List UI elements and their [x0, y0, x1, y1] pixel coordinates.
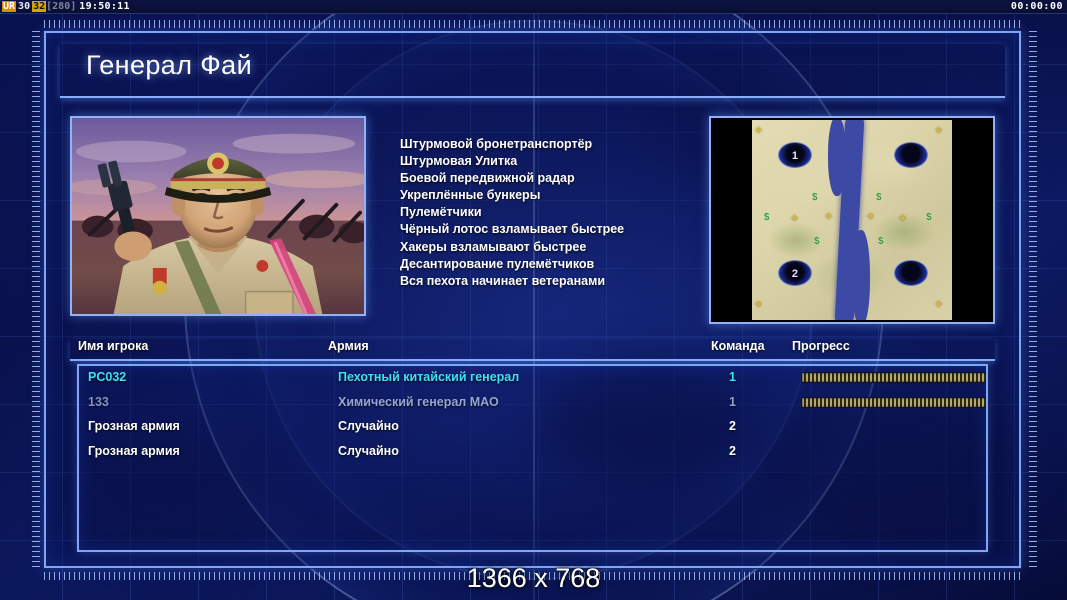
- resolution-overlay: 1366 x 768: [0, 563, 1067, 594]
- ability-item: Хакеры взламывают быстрее: [400, 239, 700, 256]
- ruler-trim-top: [44, 20, 1021, 28]
- status-tag: UR: [2, 1, 16, 12]
- minimap-star-icon: ✦: [934, 124, 943, 137]
- table-row[interactable]: Грозная армияСлучайно2: [79, 415, 986, 440]
- ruler-trim-left: [32, 31, 40, 568]
- minimap-star-icon: ✦: [754, 298, 763, 311]
- status-bracket: [280]: [46, 1, 76, 12]
- column-header-player-name: Имя игрока: [78, 339, 148, 353]
- cell-army: Случайно: [338, 444, 399, 458]
- minimap-supply-icon: $: [764, 212, 770, 223]
- minimap-river-upper: [828, 120, 846, 196]
- minimap-star-icon: ✦: [934, 298, 943, 311]
- minimap-supply-icon: $: [812, 192, 818, 203]
- ability-item: Вся пехота начинает ветеранами: [400, 273, 700, 290]
- page-title: Генерал Фай: [86, 50, 252, 81]
- table-row[interactable]: 133Химический генерал МАО1: [79, 391, 986, 416]
- cell-progress: [801, 372, 988, 383]
- minimap-start-position-2: [894, 142, 928, 168]
- minimap-river-lower: [852, 230, 870, 320]
- status-timer: 00:00:00: [1011, 0, 1063, 14]
- progress-bar: [801, 397, 988, 408]
- cell-army: Пехотный китайский генерал: [338, 370, 519, 384]
- general-portrait: [70, 116, 366, 316]
- ability-item: Штурмовой бронетранспортёр: [400, 136, 700, 153]
- minimap-start-position-3: 2: [778, 260, 812, 286]
- minimap-supply-icon: $: [876, 192, 882, 203]
- status-value-1: 30: [16, 1, 32, 12]
- cell-player-name: Грозная армия: [88, 419, 180, 433]
- cell-team: 1: [729, 395, 736, 409]
- loading-screen: UR3032[280]19:50:11 00:00:00 Генерал Фай: [0, 0, 1067, 600]
- ruler-trim-right: [1029, 31, 1037, 568]
- progress-bar: [801, 372, 988, 383]
- minimap-supply-icon: $: [926, 212, 932, 223]
- cell-army: Химический генерал МАО: [338, 395, 499, 409]
- cell-team: 2: [729, 419, 736, 433]
- ability-item: Укреплённые бункеры: [400, 187, 700, 204]
- minimap: 1 2 $ $ $ $ $ $ ✦ ✦ ✦ ✦ ✦: [709, 116, 995, 324]
- general-portrait-image: [72, 118, 364, 315]
- general-abilities-list: Штурмовой бронетранспортёр Штурмовая Ули…: [400, 136, 700, 290]
- minimap-star-icon: ✦: [754, 124, 763, 137]
- minimap-supply-icon: $: [814, 236, 820, 247]
- ability-item: Чёрный лотос взламывает быстрее: [400, 221, 700, 238]
- cell-player-name: Грозная армия: [88, 444, 180, 458]
- table-row[interactable]: PC032Пехотный китайский генерал1: [79, 366, 986, 391]
- cell-team: 2: [729, 444, 736, 458]
- cell-player-name: 133: [88, 395, 109, 409]
- cell-progress: [801, 397, 988, 408]
- column-header-team: Команда: [711, 339, 765, 353]
- minimap-start-position-4: [894, 260, 928, 286]
- main-panel: Генерал Фай: [44, 31, 1021, 568]
- column-header-army: Армия: [328, 339, 369, 353]
- cell-player-name: PC032: [88, 370, 126, 384]
- cell-team: 1: [729, 370, 736, 384]
- minimap-start-position-1: 1: [778, 142, 812, 168]
- ability-item: Боевой передвижной радар: [400, 170, 700, 187]
- player-table: PC032Пехотный китайский генерал1133Химич…: [77, 364, 988, 552]
- general-info-row: Штурмовой бронетранспортёр Штурмовая Ули…: [70, 116, 995, 326]
- status-clock: 19:50:11: [76, 1, 130, 12]
- player-table-header: Имя игрока Армия Команда Прогресс: [70, 339, 995, 361]
- status-value-2: 32: [32, 1, 46, 12]
- minimap-star-icon: ✦: [866, 210, 875, 223]
- minimap-star-icon: ✦: [824, 210, 833, 223]
- ability-item: Десантирование пулемётчиков: [400, 256, 700, 273]
- status-bar-left: UR3032[280]19:50:11: [2, 0, 130, 14]
- title-bar: Генерал Фай: [60, 44, 1005, 98]
- cell-army: Случайно: [338, 419, 399, 433]
- status-bar: UR3032[280]19:50:11 00:00:00: [0, 0, 1067, 14]
- column-header-progress: Прогресс: [792, 339, 850, 353]
- minimap-inner: 1 2 $ $ $ $ $ $ ✦ ✦ ✦ ✦ ✦: [711, 120, 993, 320]
- minimap-star-icon: ✦: [790, 212, 799, 225]
- ability-item: Пулемётчики: [400, 204, 700, 221]
- minimap-supply-icon: $: [878, 236, 884, 247]
- table-row[interactable]: Грозная армияСлучайно2: [79, 440, 986, 465]
- minimap-terrain: 1 2 $ $ $ $ $ $ ✦ ✦ ✦ ✦ ✦: [752, 120, 952, 320]
- minimap-star-icon: ✦: [898, 212, 907, 225]
- ability-item: Штурмовая Улитка: [400, 153, 700, 170]
